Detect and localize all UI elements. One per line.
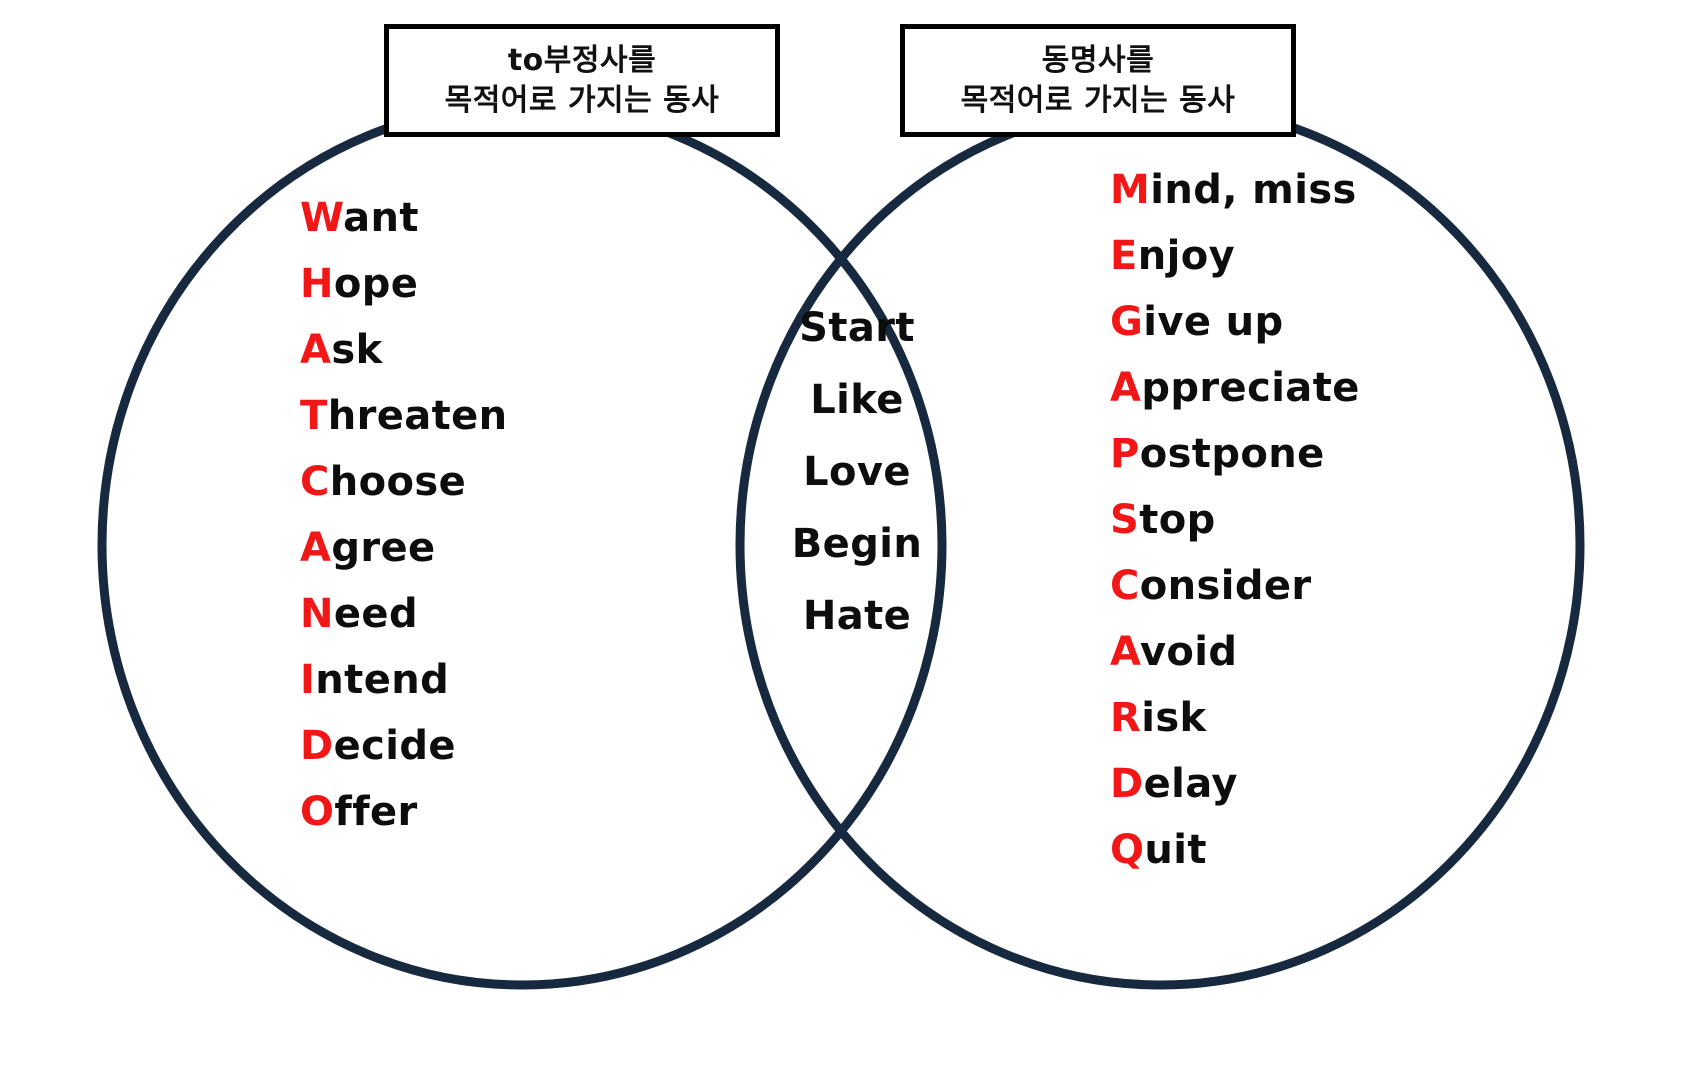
word-rest: ntend	[315, 657, 449, 703]
word-item: Consider	[1110, 566, 1510, 606]
left-set-label-line2: 목적어로 가지는 동사	[445, 81, 720, 121]
word-rest: ope	[334, 261, 418, 307]
left-set-label-box: to부정사를 목적어로 가지는 동사	[384, 24, 780, 137]
word-rest: void	[1140, 629, 1238, 675]
word-item: Enjoy	[1110, 236, 1510, 276]
word-item: Appreciate	[1110, 368, 1510, 408]
word-item: Hope	[300, 264, 630, 304]
word-initial: O	[300, 789, 334, 835]
word-rest: ecide	[334, 723, 456, 769]
word-initial: D	[1110, 761, 1144, 807]
word-initial: Q	[1110, 827, 1144, 873]
word-rest: elay	[1144, 761, 1238, 807]
word-initial: N	[300, 591, 334, 637]
word-initial: S	[1110, 497, 1139, 543]
right-set-label-box: 동명사를 목적어로 가지는 동사	[900, 24, 1296, 137]
word-rest: top	[1139, 497, 1215, 543]
word-rest: ppreciate	[1141, 365, 1359, 411]
word-rest: njoy	[1138, 233, 1235, 279]
word-rest: ostpone	[1140, 431, 1325, 477]
word-rest: Hate	[803, 593, 911, 639]
word-rest: isk	[1141, 695, 1206, 741]
word-item: Agree	[300, 528, 630, 568]
word-item: Give up	[1110, 302, 1510, 342]
word-item: Choose	[300, 462, 630, 502]
word-initial: E	[1110, 233, 1138, 279]
word-item: Postpone	[1110, 434, 1510, 474]
word-rest: onsider	[1140, 563, 1312, 609]
word-item: Quit	[1110, 830, 1510, 870]
word-initial: I	[300, 657, 315, 703]
word-initial: R	[1110, 695, 1141, 741]
word-initial: G	[1110, 299, 1143, 345]
word-initial: M	[1110, 167, 1150, 213]
word-item: Avoid	[1110, 632, 1510, 672]
word-initial: C	[1110, 563, 1140, 609]
word-item: Like	[742, 380, 972, 420]
right-set-label-line1: 동명사를	[1042, 41, 1154, 81]
word-item: Begin	[742, 524, 972, 564]
word-initial: C	[300, 459, 330, 505]
word-item: Risk	[1110, 698, 1510, 738]
word-item: Love	[742, 452, 972, 492]
word-item: Want	[300, 198, 630, 238]
word-rest: gree	[331, 525, 435, 571]
word-rest: hreaten	[328, 393, 508, 439]
left-set-label-line1: to부정사를	[508, 41, 656, 81]
word-initial: W	[300, 195, 343, 241]
word-initial: A	[1110, 365, 1141, 411]
word-initial: H	[300, 261, 334, 307]
intersection-word-list: Start Like Love Begin Hate	[742, 308, 972, 668]
word-initial: T	[300, 393, 328, 439]
word-initial: P	[1110, 431, 1140, 477]
word-item: Ask	[300, 330, 630, 370]
venn-diagram-canvas: to부정사를 목적어로 가지는 동사 동명사를 목적어로 가지는 동사 Want…	[0, 0, 1692, 1073]
word-rest: ffer	[334, 789, 417, 835]
word-item: Delay	[1110, 764, 1510, 804]
word-rest: Start	[799, 305, 915, 351]
word-initial: D	[300, 723, 334, 769]
word-item: Hate	[742, 596, 972, 636]
word-initial: A	[300, 525, 331, 571]
word-item: Start	[742, 308, 972, 348]
right-set-label-line2: 목적어로 가지는 동사	[961, 81, 1236, 121]
word-rest: Like	[810, 377, 903, 423]
word-rest: Love	[803, 449, 911, 495]
word-item: Need	[300, 594, 630, 634]
word-initial: A	[300, 327, 331, 373]
word-initial: A	[1110, 629, 1140, 675]
word-item: Threaten	[300, 396, 630, 436]
word-rest: ant	[343, 195, 419, 241]
left-only-word-list: Want Hope Ask Threaten Choose Agree Need…	[300, 198, 630, 858]
word-rest: Begin	[792, 521, 922, 567]
word-rest: ive up	[1143, 299, 1283, 345]
word-item: Stop	[1110, 500, 1510, 540]
word-rest: ind, miss	[1150, 167, 1357, 213]
word-item: Mind, miss	[1110, 170, 1510, 210]
word-item: Decide	[300, 726, 630, 766]
word-item: Offer	[300, 792, 630, 832]
word-rest: hoose	[330, 459, 466, 505]
word-rest: eed	[334, 591, 418, 637]
right-only-word-list: Mind, miss Enjoy Give up Appreciate Post…	[1110, 170, 1510, 896]
word-rest: uit	[1144, 827, 1207, 873]
word-rest: sk	[331, 327, 382, 373]
word-item: Intend	[300, 660, 630, 700]
